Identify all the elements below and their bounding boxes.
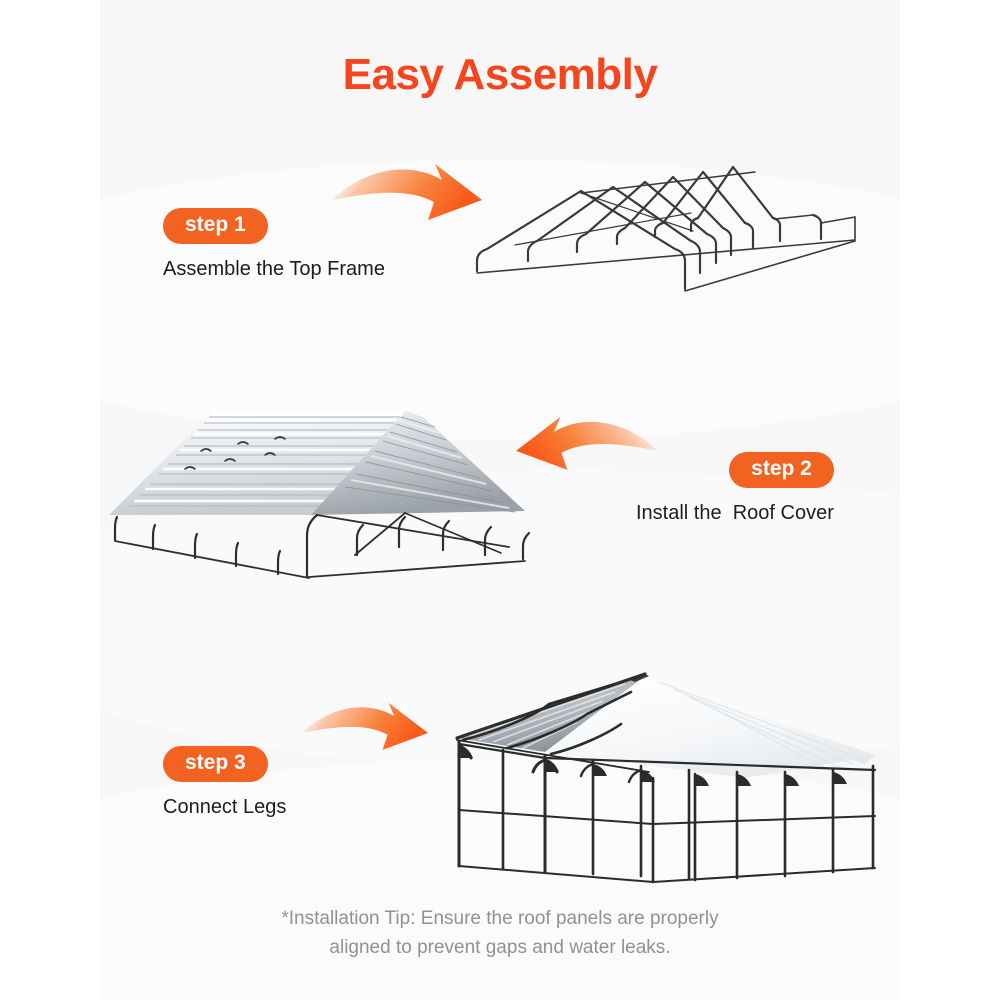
installation-tip-line-2: aligned to prevent gaps and water leaks.: [0, 934, 1000, 963]
illustration-complete-carport: [445, 660, 905, 905]
page-title: Easy Assembly: [0, 50, 1000, 100]
illustration-roof-cover: [105, 395, 555, 585]
step-1-badge: step 1: [163, 208, 268, 244]
curved-arrow-right-icon-2: [300, 688, 460, 778]
step-2-block: step 2 Install the Roof Cover: [636, 452, 834, 525]
step-2-badge: step 2: [729, 452, 834, 488]
step-3-block: step 3 Connect Legs: [163, 746, 286, 819]
step-1-label: Assemble the Top Frame: [163, 258, 385, 281]
step-3-badge: step 3: [163, 746, 268, 782]
installation-tip-line-1: *Installation Tip: Ensure the roof panel…: [0, 905, 1000, 934]
assembly-infographic: Easy Assembly step 1 Assemble the Top Fr…: [0, 0, 1000, 1000]
installation-tip: *Installation Tip: Ensure the roof panel…: [0, 905, 1000, 962]
illustration-top-frame: [455, 145, 875, 300]
step-2-label: Install the Roof Cover: [636, 502, 834, 525]
step-3-label: Connect Legs: [163, 796, 286, 819]
